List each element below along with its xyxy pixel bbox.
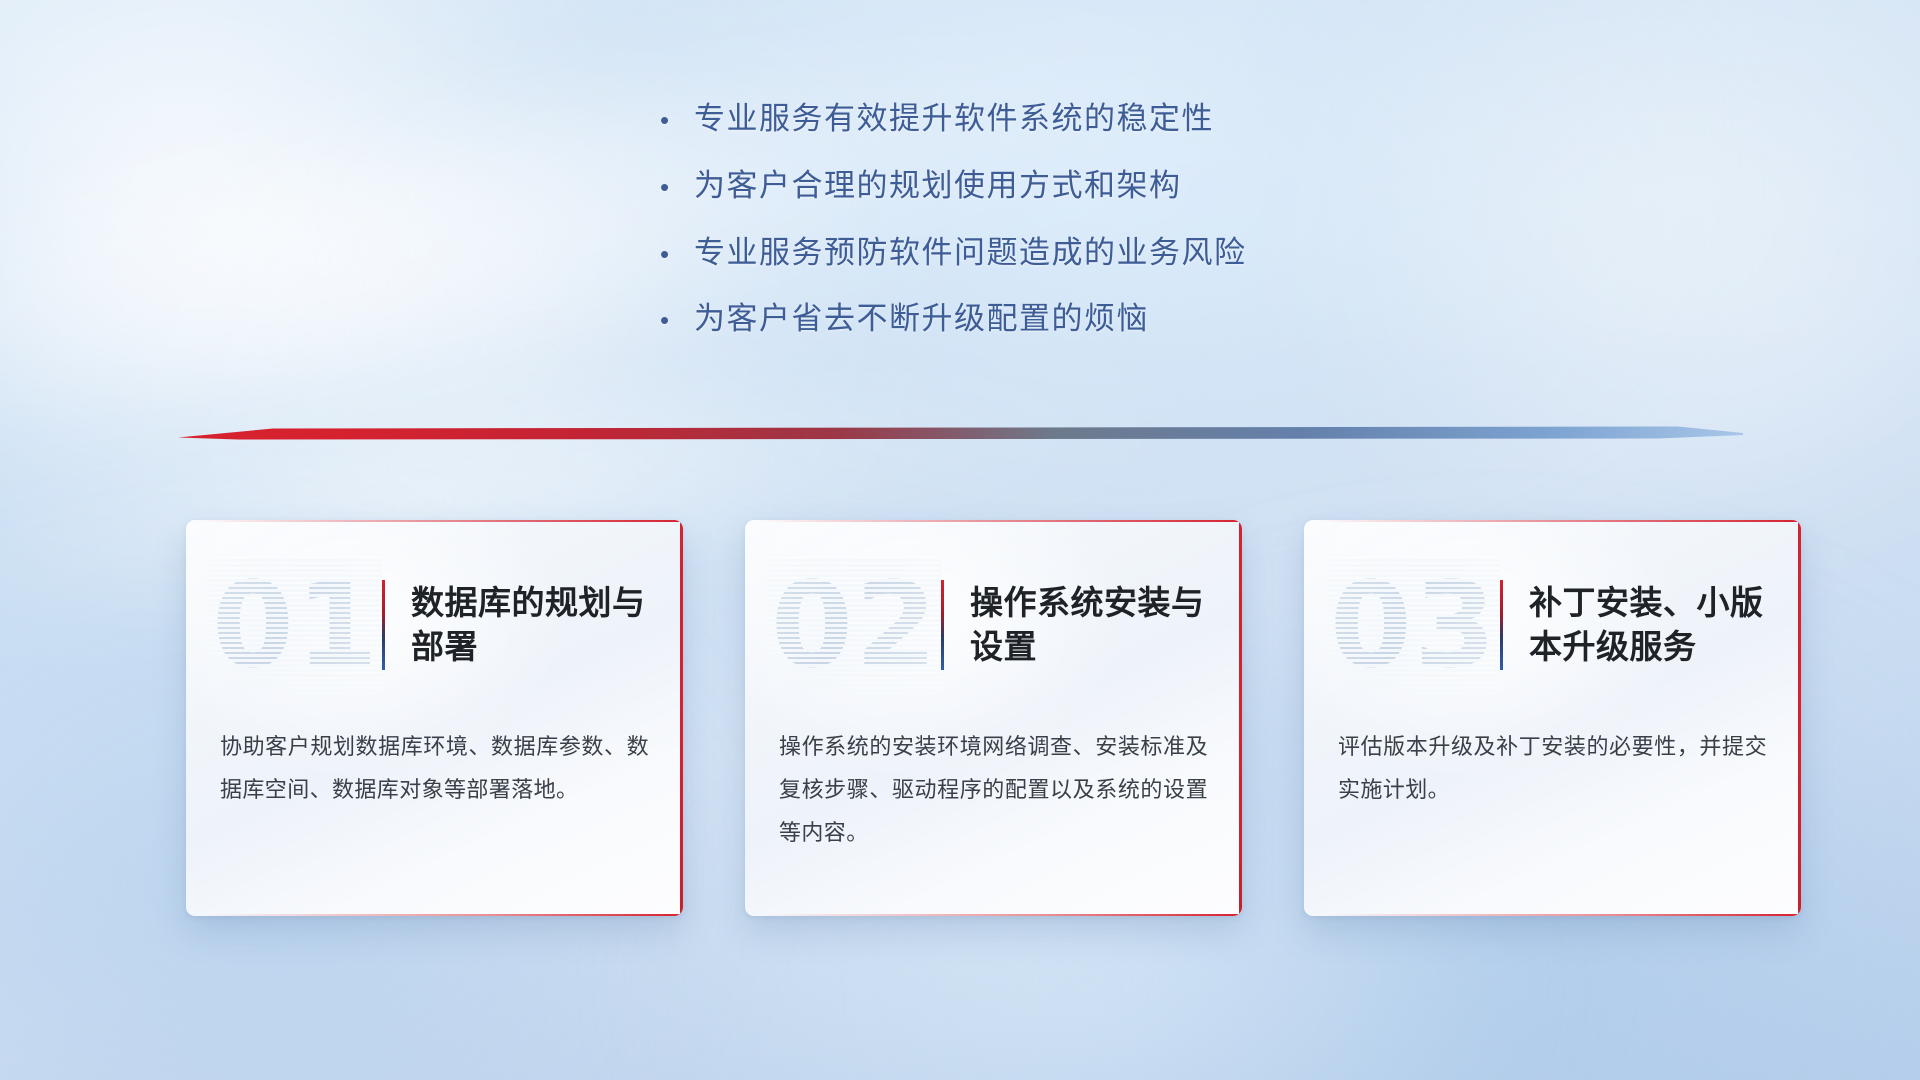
card-title: 操作系统安装与设置 [970, 581, 1242, 668]
card-accent-top [196, 520, 683, 522]
card-header: 02 操作系统安装与设置 [745, 550, 1242, 700]
service-card[interactable]: 02 操作系统安装与设置 操作系统的安装环境网络调查、安装标准及复核步骤、驱动程… [745, 520, 1242, 916]
card-title: 补丁安装、小版本升级服务 [1529, 581, 1801, 668]
bullet-text: 为客户省去不断升级配置的烦恼 [694, 300, 1440, 339]
card-accent-bottom [204, 914, 683, 916]
list-item: • 为客户省去不断升级配置的烦恼 [660, 300, 1440, 339]
card-body-text: 协助客户规划数据库环境、数据库参数、数据库空间、数据库对象等部署落地。 [220, 726, 649, 812]
card-number-watermark: 01 [210, 557, 382, 693]
card-body-text: 操作系统的安装环境网络调查、安装标准及复核步骤、驱动程序的配置以及系统的设置等内… [779, 726, 1208, 855]
benefits-bullet-list: • 专业服务有效提升软件系统的稳定性 • 为客户合理的规划使用方式和架构 • 专… [660, 100, 1440, 367]
card-accent-top [755, 520, 1242, 522]
service-card[interactable]: 01 数据库的规划与部署 协助客户规划数据库环境、数据库参数、数据库空间、数据库… [186, 520, 683, 916]
card-title: 数据库的规划与部署 [411, 581, 683, 668]
bullet-dot-icon: • [660, 174, 694, 200]
card-body-text: 评估版本升级及补丁安装的必要性，并提交实施计划。 [1338, 726, 1767, 812]
bullet-dot-icon: • [660, 241, 694, 267]
list-item: • 专业服务预防软件问题造成的业务风险 [660, 234, 1440, 273]
card-number-watermark: 02 [769, 557, 941, 693]
card-accent-bottom [1322, 914, 1801, 916]
card-title-accent-bar [382, 580, 385, 670]
card-header: 01 数据库的规划与部署 [186, 550, 683, 700]
bullet-text: 专业服务有效提升软件系统的稳定性 [694, 100, 1440, 139]
card-number-watermark: 03 [1328, 557, 1500, 693]
bullet-dot-icon: • [660, 307, 694, 333]
card-number: 01 [212, 566, 380, 684]
bullet-dot-icon: • [660, 107, 694, 133]
divider-shape-icon [178, 424, 1743, 441]
card-title-accent-bar [941, 580, 944, 670]
service-card[interactable]: 03 补丁安装、小版本升级服务 评估版本升级及补丁安装的必要性，并提交实施计划。 [1304, 520, 1801, 916]
section-divider [178, 424, 1743, 441]
card-accent-top [1314, 520, 1801, 522]
card-header: 03 补丁安装、小版本升级服务 [1304, 550, 1801, 700]
card-number: 03 [1330, 566, 1498, 684]
bullet-text: 为客户合理的规划使用方式和架构 [694, 167, 1440, 206]
card-accent-bottom [763, 914, 1242, 916]
list-item: • 为客户合理的规划使用方式和架构 [660, 167, 1440, 206]
bullet-text: 专业服务预防软件问题造成的业务风险 [694, 234, 1440, 273]
service-card-list: 01 数据库的规划与部署 协助客户规划数据库环境、数据库参数、数据库空间、数据库… [186, 520, 1801, 916]
card-number: 02 [771, 566, 939, 684]
card-title-accent-bar [1500, 580, 1503, 670]
list-item: • 专业服务有效提升软件系统的稳定性 [660, 100, 1440, 139]
